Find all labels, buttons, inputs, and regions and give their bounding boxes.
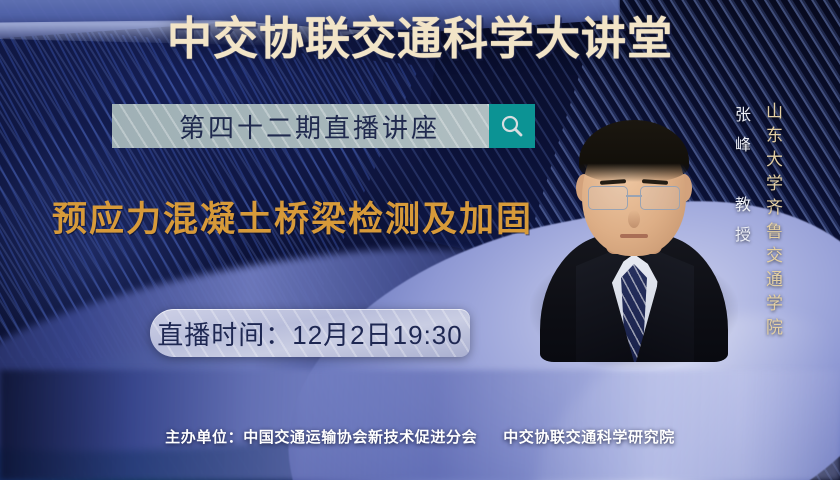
subtitle-band: 第四十二期直播讲座 xyxy=(112,104,535,148)
subtitle-text: 第四十二期直播讲座 xyxy=(112,108,489,145)
footer-organizer-1: 中国交通运输协会新技术促进分会 xyxy=(243,429,477,446)
footer-organizers: 主办单位：中国交通运输协会新技术促进分会中交协联交通科学研究院 xyxy=(0,426,840,447)
portrait-lens-right xyxy=(640,186,680,210)
search-button[interactable] xyxy=(489,104,535,148)
portrait-glasses-bridge xyxy=(626,195,642,197)
speaker-name-vertical: 张峰 教授 xyxy=(728,106,752,256)
lecture-title: 预应力混凝土桥梁检测及加固 xyxy=(52,191,533,242)
speaker-organization-vertical: 山东大学齐鲁交通学院 xyxy=(760,102,785,342)
portrait-nose xyxy=(628,210,640,228)
glasses-icon xyxy=(586,186,682,210)
page-title: 中交协联交通科学大讲堂 xyxy=(0,16,840,61)
portrait-lens-left xyxy=(588,186,628,210)
search-icon xyxy=(499,113,525,139)
poster-content: 中交协联交通科学大讲堂 第四十二期直播讲座 预应力混凝土桥梁检测及加固 直播时间… xyxy=(0,0,840,480)
broadcast-time-badge: 直播时间：12月2日19:30 xyxy=(150,309,470,357)
portrait-mouth xyxy=(620,234,648,238)
portrait-hair xyxy=(579,120,689,182)
footer-label: 主办单位： xyxy=(165,429,243,446)
footer-organizer-2: 中交协联交通科学研究院 xyxy=(503,429,675,446)
broadcast-time-text: 直播时间：12月2日19:30 xyxy=(157,315,462,352)
speaker-portrait xyxy=(546,112,722,362)
lecture-poster: 中交协联交通科学大讲堂 第四十二期直播讲座 预应力混凝土桥梁检测及加固 直播时间… xyxy=(0,0,840,480)
